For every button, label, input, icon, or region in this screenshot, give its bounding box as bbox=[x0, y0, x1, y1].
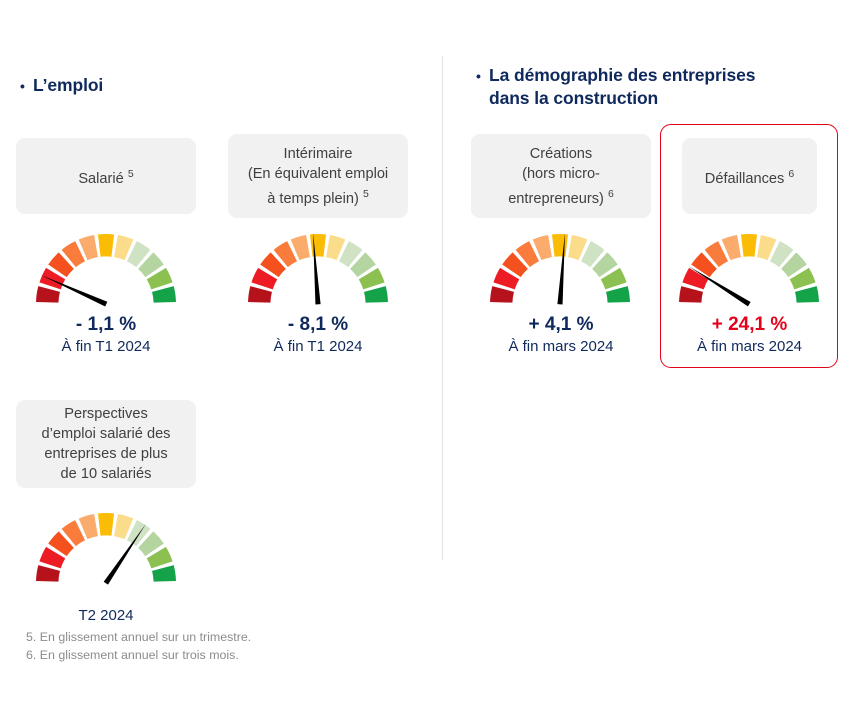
gauge-segment-11 bbox=[152, 565, 176, 582]
footnote-ref-interimaire: 5 bbox=[363, 188, 369, 200]
card-label-perspectives-line-2: d’emploi salarié des bbox=[42, 424, 171, 444]
gauge-interimaire bbox=[228, 226, 408, 310]
period-salarie: À fin T1 2024 bbox=[16, 337, 196, 357]
footnote-6: 6. En glissement annuel sur trois mois. bbox=[26, 647, 251, 665]
value-creations: + 4,1 % bbox=[471, 313, 651, 337]
period-interimaire: À fin T1 2024 bbox=[228, 337, 408, 357]
bullet-icon-demography: • bbox=[476, 65, 481, 88]
gauge-segment-11 bbox=[152, 286, 176, 303]
gauge-segment-11 bbox=[364, 286, 388, 303]
section-title-employment-text: L’emploi bbox=[33, 75, 103, 95]
card-label-creations: Créations (hors micro- entrepreneurs) 6 bbox=[471, 134, 651, 218]
card-label-salarie-line-1: Salarié bbox=[78, 170, 127, 186]
gauge-segment-1 bbox=[679, 286, 703, 303]
gauge-segment-6 bbox=[310, 234, 326, 257]
card-label-perspectives-line-4: de 10 salariés bbox=[42, 464, 171, 484]
gauge-segment-6 bbox=[98, 234, 114, 257]
gauge-segment-6 bbox=[741, 234, 757, 257]
card-label-defaillances: Défaillances 6 bbox=[682, 138, 817, 214]
gauge-defaillances bbox=[674, 226, 824, 310]
gauge-segment-6 bbox=[98, 513, 114, 536]
gauge-segment-1 bbox=[36, 286, 60, 303]
gauge-creations bbox=[485, 226, 635, 310]
gauge-segment-6 bbox=[552, 234, 568, 257]
period-defaillances: À fin mars 2024 bbox=[682, 337, 817, 357]
card-label-defaillances-line-1: Défaillances bbox=[705, 170, 789, 186]
value-defaillances: + 24,1 % bbox=[682, 313, 817, 337]
value-block-perspectives: T2 2024 bbox=[16, 606, 196, 626]
card-label-perspectives-line-1: Perspectives bbox=[42, 404, 171, 424]
gauge-segment-11 bbox=[606, 286, 630, 303]
footnote-ref-salarie: 5 bbox=[128, 168, 134, 180]
section-title-demography-line-1: La démographie des entreprises bbox=[489, 65, 755, 85]
card-label-perspectives-line-3: entreprises de plus bbox=[42, 444, 171, 464]
card-label-creations-line-1: Créations bbox=[508, 144, 614, 164]
gauge-segment-11 bbox=[795, 286, 819, 303]
value-block-creations: + 4,1 % À fin mars 2024 bbox=[471, 313, 651, 357]
footnote-5: 5. En glissement annuel sur un trimestre… bbox=[26, 629, 251, 647]
value-salarie: - 1,1 % bbox=[16, 313, 196, 337]
card-label-interimaire: Intérimaire (En équivalent emploi à temp… bbox=[228, 134, 408, 218]
card-label-creations-line-2: (hors micro- bbox=[508, 164, 614, 184]
bullet-icon: • bbox=[20, 75, 25, 98]
employment-panel: • L’emploi Salarié 5 - 1,1 % À fin T1 20… bbox=[0, 0, 443, 714]
section-title-demography: • La démographie des entreprises dans la… bbox=[489, 64, 789, 110]
section-title-employment: • L’emploi bbox=[33, 74, 293, 97]
card-label-interimaire-line-3: à temps plein) bbox=[267, 190, 363, 206]
value-block-defaillances: + 24,1 % À fin mars 2024 bbox=[682, 313, 817, 357]
footnotes: 5. En glissement annuel sur un trimestre… bbox=[26, 629, 251, 664]
card-label-perspectives: Perspectives d’emploi salarié des entrep… bbox=[16, 400, 196, 488]
card-label-interimaire-line-1: Intérimaire bbox=[248, 144, 388, 164]
card-label-salarie: Salarié 5 bbox=[16, 138, 196, 214]
value-block-salarie: - 1,1 % À fin T1 2024 bbox=[16, 313, 196, 357]
card-label-interimaire-line-2: (En équivalent emploi bbox=[248, 164, 388, 184]
card-label-creations-line-3: entrepreneurs) bbox=[508, 190, 608, 206]
gauge-segment-1 bbox=[490, 286, 514, 303]
value-block-interimaire: - 8,1 % À fin T1 2024 bbox=[228, 313, 408, 357]
gauge-segment-1 bbox=[36, 565, 60, 582]
section-title-demography-line-2: dans la construction bbox=[489, 88, 658, 108]
footnote-ref-creations: 6 bbox=[608, 188, 614, 200]
gauge-perspectives bbox=[16, 505, 196, 589]
footnote-ref-defaillances: 6 bbox=[788, 168, 794, 180]
gauge-salarie bbox=[16, 226, 196, 310]
gauge-segment-1 bbox=[248, 286, 272, 303]
period-creations: À fin mars 2024 bbox=[471, 337, 651, 357]
period-perspectives: T2 2024 bbox=[16, 606, 196, 626]
value-interimaire: - 8,1 % bbox=[228, 313, 408, 337]
